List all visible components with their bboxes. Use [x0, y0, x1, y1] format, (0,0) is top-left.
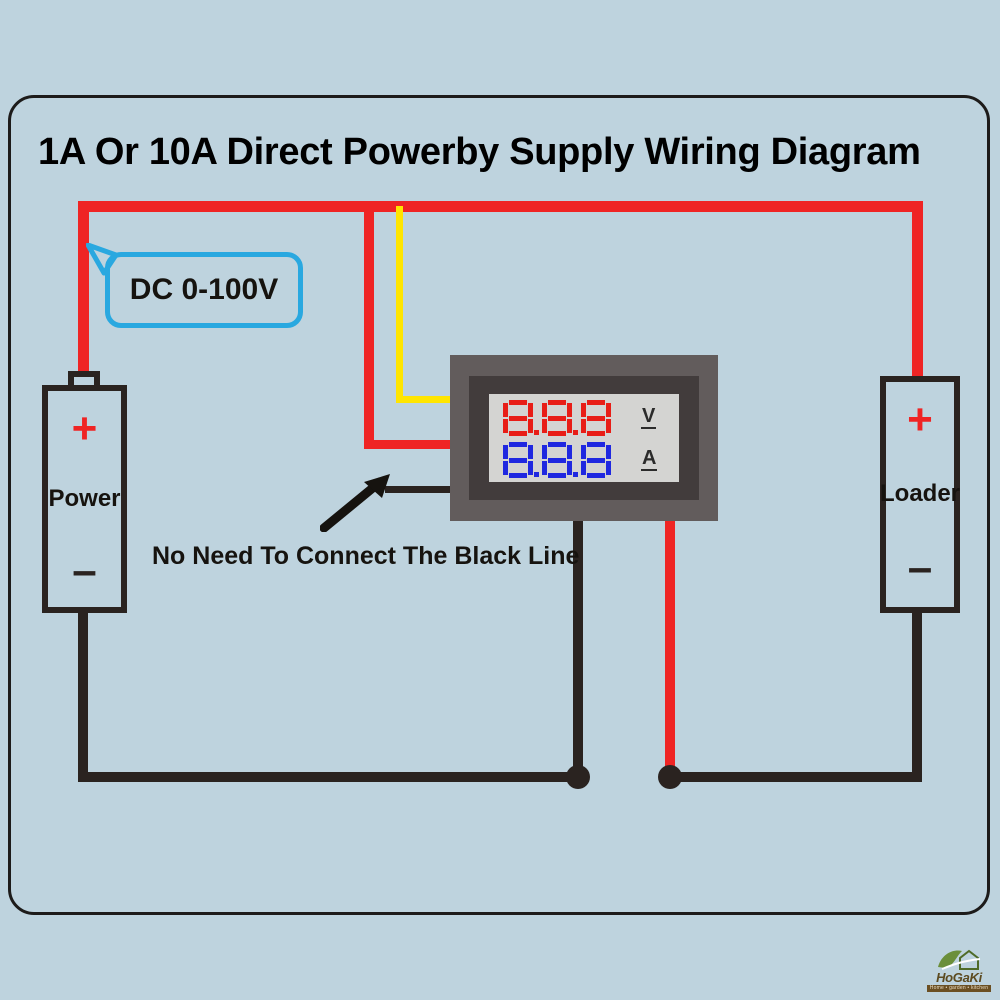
- logo-tagline: Home • garden • kitchen: [927, 985, 991, 992]
- pointer-arrow-icon: [320, 472, 400, 532]
- black-wire-bottom-right: [668, 772, 922, 782]
- current-decimal-2: [572, 442, 581, 478]
- voltage-range-callout: DC 0-100V: [105, 252, 303, 328]
- leaf-house-icon: [936, 947, 982, 971]
- logo-name: HoGaKi: [936, 971, 982, 984]
- meter-lcd-screen: V A: [489, 394, 679, 482]
- red-wire-meter-drop: [364, 201, 374, 447]
- loader-battery: + Loader –: [880, 376, 960, 613]
- loader-battery-label: Loader: [880, 480, 960, 508]
- current-unit-label: A: [641, 448, 657, 471]
- current-decimal-1: [533, 442, 542, 478]
- voltage-digit-2: [542, 400, 572, 436]
- power-plus-label: +: [48, 407, 121, 451]
- black-wire-bottom-left: [78, 772, 580, 782]
- voltage-decimal-2: [572, 400, 581, 436]
- loader-plus-label: +: [886, 398, 954, 442]
- red-wire-top-bus: [78, 201, 923, 212]
- red-wire-power-drop: [78, 201, 89, 381]
- loader-minus-label: –: [886, 546, 954, 590]
- voltage-digit-1: [503, 400, 533, 436]
- black-wire-loader-down: [912, 612, 922, 782]
- junction-dot-left: [566, 765, 590, 789]
- voltage-decimal-1: [533, 400, 542, 436]
- current-digit-3: [581, 442, 611, 478]
- junction-dot-right: [658, 765, 682, 789]
- diagram-canvas: 1A Or 10A Direct Powerby Supply Wiring D…: [0, 0, 1000, 1000]
- power-minus-label: –: [48, 549, 121, 593]
- red-wire-loader-drop: [912, 201, 923, 381]
- yellow-wire-drop: [396, 206, 403, 402]
- red-wire-meter-run: [364, 440, 460, 449]
- red-wire-meter-down: [665, 515, 675, 775]
- voltage-digit-3: [581, 400, 611, 436]
- power-battery: + Power –: [42, 385, 127, 613]
- current-digit-1: [503, 442, 533, 478]
- power-battery-label: Power: [48, 485, 121, 513]
- black-wire-power-down: [78, 612, 88, 782]
- current-readout: [503, 442, 611, 478]
- callout-text: DC 0-100V: [110, 257, 298, 323]
- panel-meter: V A: [450, 355, 718, 521]
- brand-logo: HoGaKi Home • garden • kitchen: [928, 934, 990, 992]
- voltage-unit-label: V: [641, 406, 656, 429]
- meter-bezel: V A: [469, 376, 699, 500]
- black-line-note: No Need To Connect The Black Line: [152, 542, 579, 571]
- current-digit-2: [542, 442, 572, 478]
- voltage-readout: [503, 400, 611, 436]
- page-title: 1A Or 10A Direct Powerby Supply Wiring D…: [38, 131, 988, 174]
